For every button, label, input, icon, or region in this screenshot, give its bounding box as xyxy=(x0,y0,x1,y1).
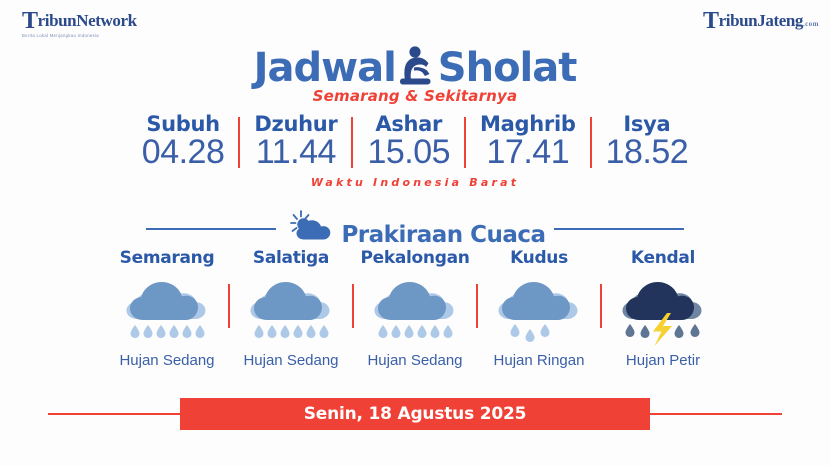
rain-moderate-icon xyxy=(245,272,337,350)
prayer-value: 15.05 xyxy=(367,134,450,171)
title-subtitle: Semarang & Sekitarnya xyxy=(0,87,830,105)
forecast-card-kudus: Kudus Hujan Ringan xyxy=(478,248,600,370)
tribun-jateng-name: ribunJateng xyxy=(719,11,803,30)
title-block: Jadwal Sholat Semarang & Sekitarnya xyxy=(0,44,830,105)
forecast-card-semarang: Semarang Hujan Sedang xyxy=(106,248,228,370)
rain-moderate-icon xyxy=(121,272,213,350)
forecast-condition: Hujan Sedang xyxy=(243,352,338,370)
footer-date-text: Senin, 18 Agustus 2025 xyxy=(304,404,527,424)
forecast-city: Kudus xyxy=(510,248,568,268)
prayer-value: 18.52 xyxy=(606,134,689,171)
prayer-value: 17.41 xyxy=(480,134,576,171)
prayer-value: 11.44 xyxy=(254,134,337,171)
prayer-time-ashar: Ashar 15.05 xyxy=(353,112,464,172)
forecast-condition: Hujan Sedang xyxy=(119,352,214,370)
tribun-jateng-logo: TribunJateng.com xyxy=(703,12,808,31)
prayer-time-subuh: Subuh 04.28 xyxy=(128,112,239,172)
weather-section-title: Prakiraan Cuaca xyxy=(341,224,545,249)
title-word-sholat: Sholat xyxy=(438,48,577,88)
weather-section-header: Prakiraan Cuaca xyxy=(0,208,830,249)
tribun-network-name: ribunNetwork xyxy=(38,11,137,30)
tribun-network-tagline: Berita Lokal Menjangkau Indonesia xyxy=(22,33,127,38)
tribun-jateng-domain: .com xyxy=(803,20,819,28)
forecast-condition: Hujan Ringan xyxy=(494,352,585,370)
forecast-city: Kendal xyxy=(631,248,695,268)
weather-forecast-row: Semarang Hujan Sedang xyxy=(0,248,830,370)
forecast-city: Salatiga xyxy=(253,248,329,268)
forecast-card-salatiga: Salatiga Hujan Sedang xyxy=(230,248,352,370)
tribun-jateng-initial: T xyxy=(703,8,719,34)
prayer-time-maghrib: Maghrib 17.41 xyxy=(466,112,590,172)
prayer-times-row: Subuh 04.28 Dzuhur 11.44 Ashar 15.05 Mag… xyxy=(0,112,830,172)
rain-light-icon xyxy=(493,272,585,350)
prayer-value: 04.28 xyxy=(142,134,225,171)
prayer-schedule-infographic: TribunNetwork Berita Lokal Menjangkau In… xyxy=(0,0,830,466)
header-rule-right xyxy=(554,228,684,230)
date-banner: Senin, 18 Agustus 2025 xyxy=(180,398,650,430)
forecast-condition: Hujan Petir xyxy=(626,352,700,370)
date-rule-left xyxy=(48,413,180,415)
title-word-jadwal: Jadwal xyxy=(254,48,396,88)
forecast-card-pekalongan: Pekalongan Hujan Sedang xyxy=(354,248,476,370)
forecast-card-kendal: Kendal Hujan Petir xyxy=(602,248,724,370)
header-rule-left xyxy=(146,228,276,230)
tribun-network-initial: T xyxy=(22,8,38,34)
tribun-jateng-wordmark: TribunJateng.com xyxy=(703,12,808,31)
title-row: Jadwal Sholat xyxy=(0,44,830,92)
date-rule-right xyxy=(650,413,782,415)
prayer-time-dzuhur: Dzuhur 11.44 xyxy=(240,112,351,172)
rain-moderate-icon xyxy=(369,272,461,350)
tribun-network-wordmark: TribunNetwork xyxy=(22,12,127,31)
forecast-condition: Hujan Sedang xyxy=(367,352,462,370)
timezone-note: Waktu Indonesia Barat xyxy=(0,176,830,189)
sun-behind-cloud-icon xyxy=(290,208,336,249)
praying-person-icon xyxy=(394,43,438,94)
tribun-network-logo: TribunNetwork Berita Lokal Menjangkau In… xyxy=(22,12,127,38)
forecast-city: Semarang xyxy=(120,248,215,268)
forecast-city: Pekalongan xyxy=(360,248,469,268)
footer-date-bar: Senin, 18 Agustus 2025 xyxy=(0,398,830,430)
prayer-time-isya: Isya 18.52 xyxy=(592,112,703,172)
weather-header-inner: Prakiraan Cuaca xyxy=(290,208,545,249)
thunderstorm-icon xyxy=(617,272,709,350)
